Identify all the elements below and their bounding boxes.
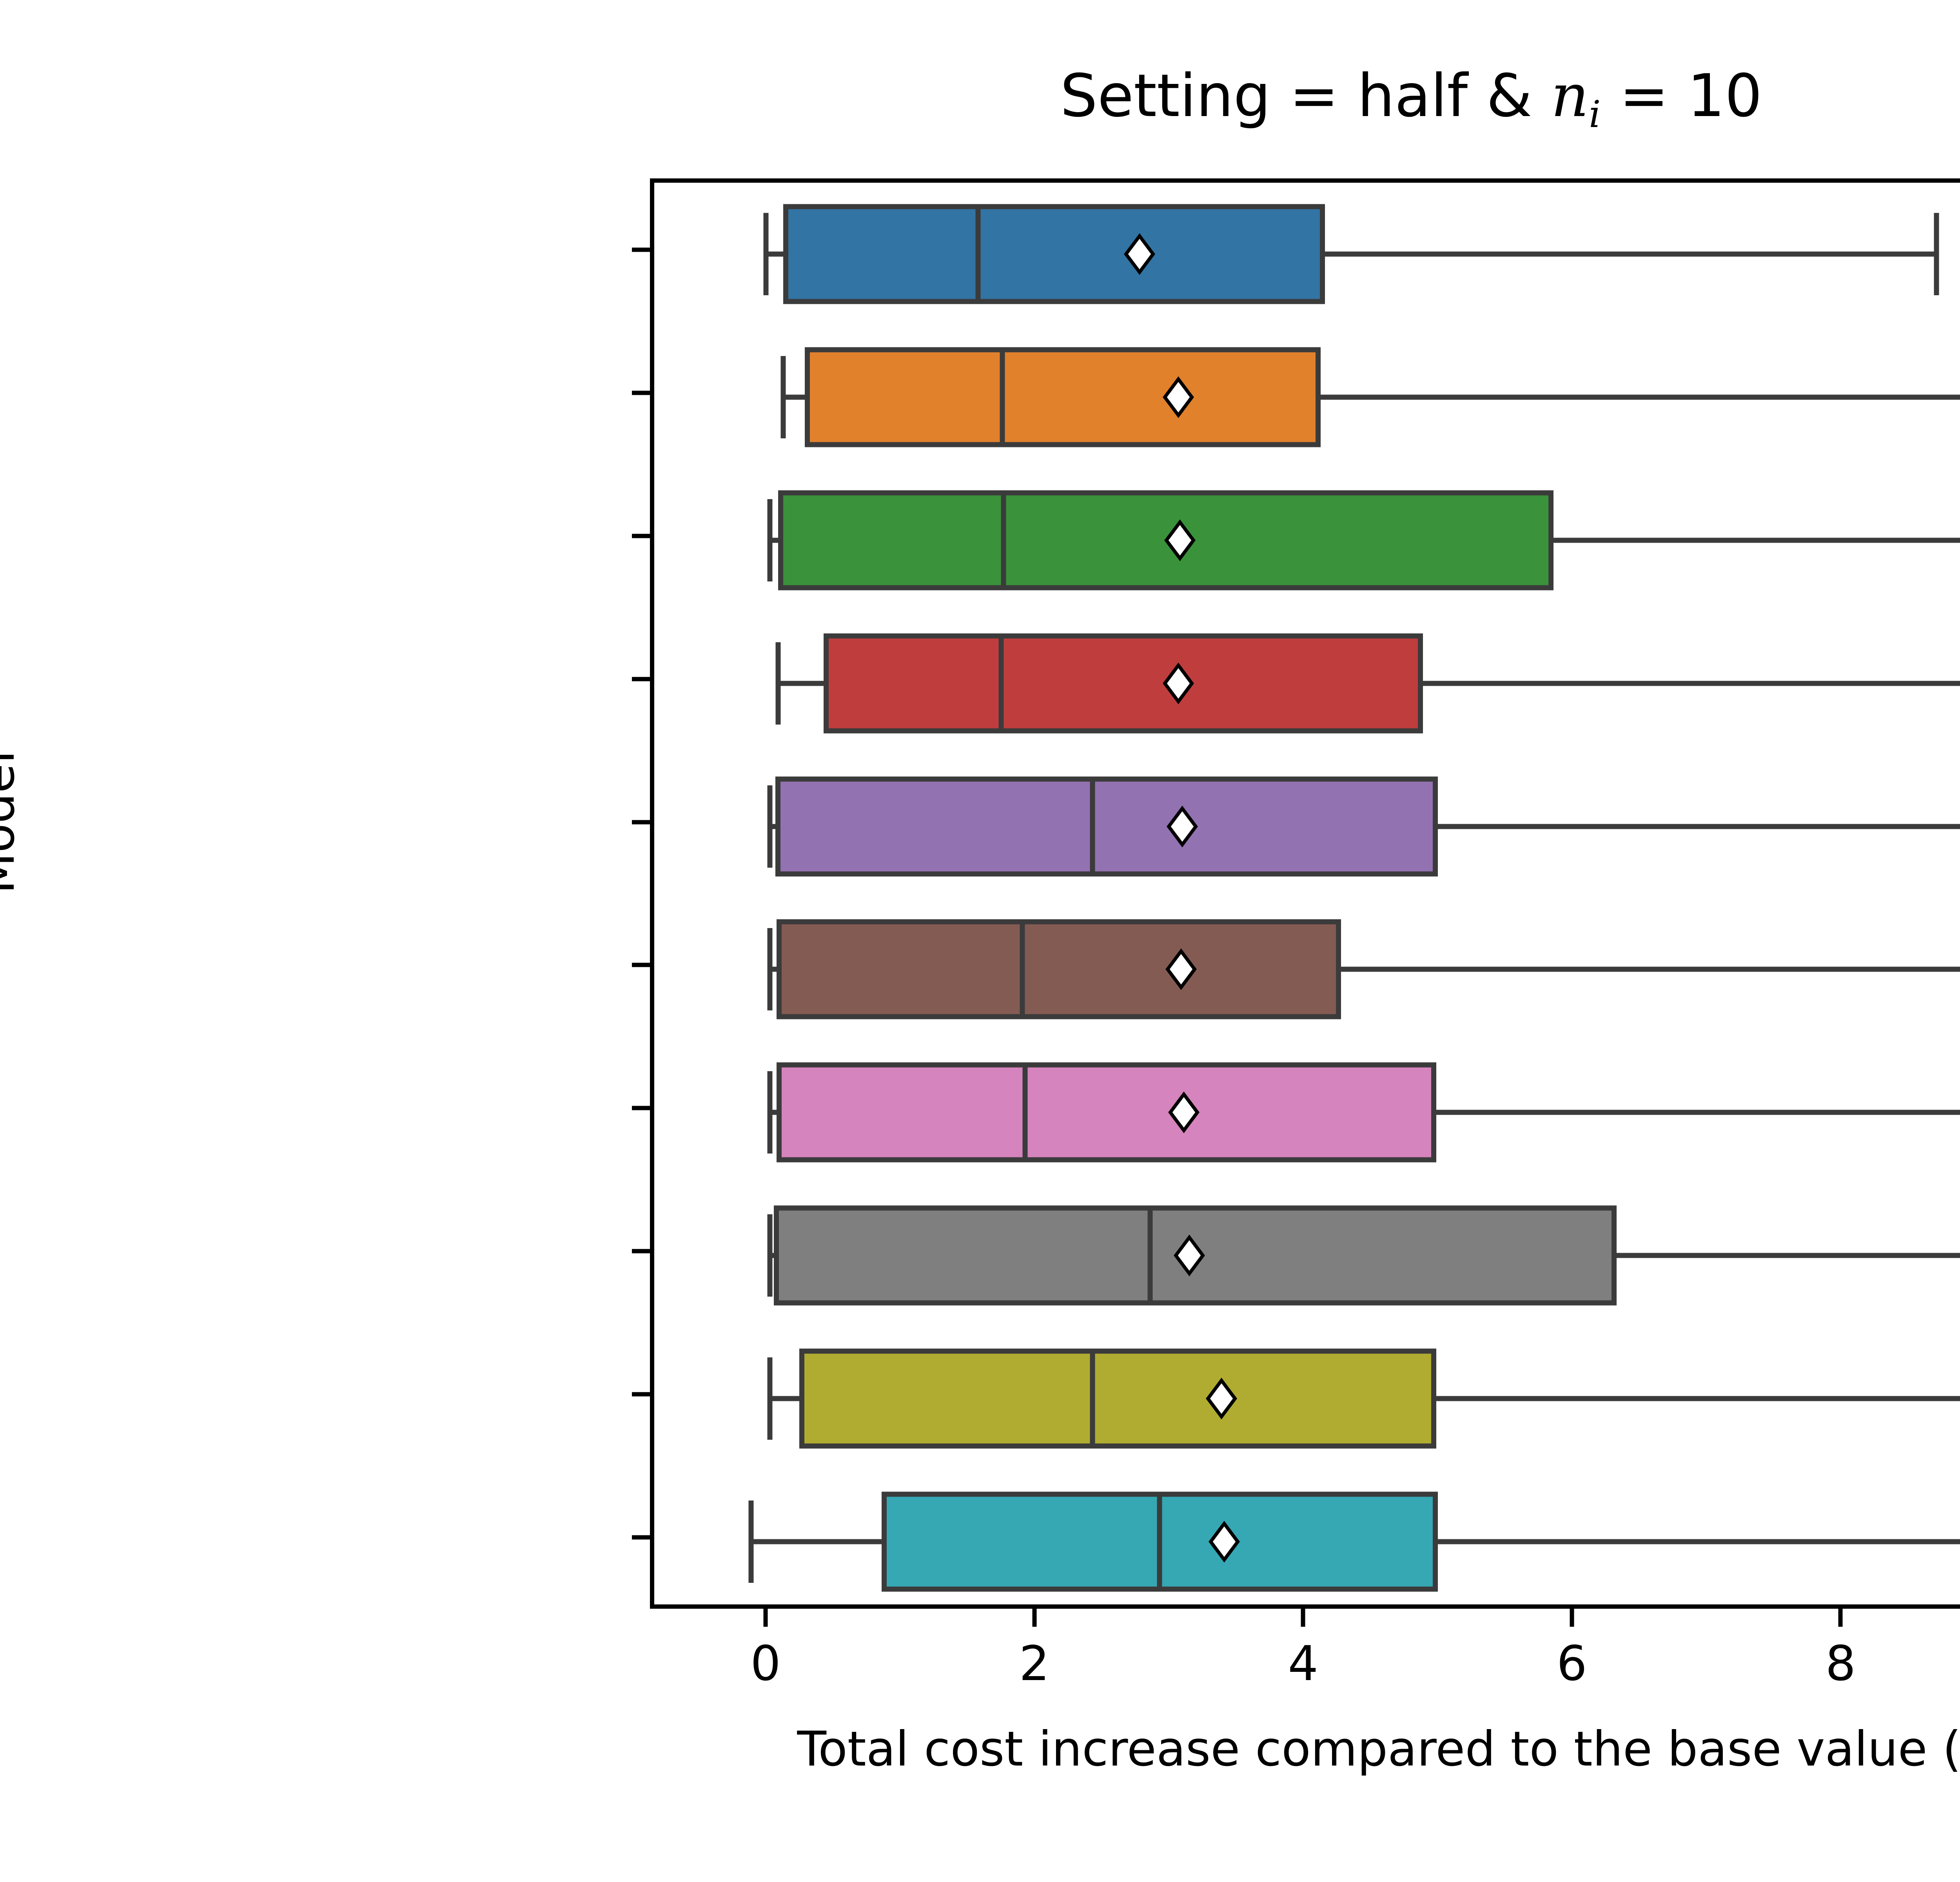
whisker-low-cap <box>768 1214 773 1297</box>
chart-title-subscript: i <box>1589 93 1601 136</box>
whisker-low-cap <box>775 642 780 725</box>
y-tick-mark-8 <box>632 1392 650 1396</box>
plot-area <box>654 183 1960 1604</box>
chart-title: Setting = half & ni = 10 <box>0 67 1960 133</box>
whisker-high-line <box>1436 1396 1960 1401</box>
whisker-high-line <box>1325 252 1936 257</box>
x-tick-mark-3 <box>1570 1609 1574 1627</box>
whisker-high-line <box>1553 538 1960 543</box>
y-tick-mark-9 <box>632 1535 650 1539</box>
median-line <box>1148 1206 1153 1306</box>
box-R-L-50-95-Γ1[interactable] <box>775 776 1438 876</box>
x-tick-label-4: 8 <box>1826 1636 1856 1691</box>
x-axis-label: Total cost increase compared to the base… <box>0 1721 1960 1777</box>
box-R-L-M-90-Γ1[interactable] <box>777 919 1341 1019</box>
x-tick-label-3: 6 <box>1557 1636 1587 1691</box>
box-R-N-M-95-Γ1[interactable] <box>805 347 1321 447</box>
whisker-low-cap <box>768 928 773 1010</box>
median-line <box>1000 347 1005 447</box>
chart-title-variable: n <box>1551 62 1589 130</box>
median-line <box>1020 919 1025 1019</box>
whisker-low-line <box>783 395 805 400</box>
median-line <box>1090 1348 1095 1448</box>
y-tick-mark-6 <box>632 1106 650 1110</box>
mean-diamond-marker <box>1163 784 1201 869</box>
whisker-low-cap <box>763 213 768 295</box>
median-line <box>1157 1491 1162 1591</box>
x-tick-label-1: 2 <box>1019 1636 1050 1691</box>
whisker-low-cap <box>768 785 773 868</box>
whisker-high-cap <box>1934 213 1939 295</box>
y-tick-mark-2 <box>632 534 650 538</box>
plot-frame <box>650 178 1960 1609</box>
y-axis-label: Model <box>0 750 25 894</box>
whisker-high-line <box>1438 1539 1960 1544</box>
whisker-high-line <box>1321 395 1960 400</box>
x-tick-mark-4 <box>1838 1609 1843 1627</box>
mean-diamond-marker <box>1165 1070 1203 1155</box>
mean-diamond-marker <box>1203 1356 1240 1441</box>
whisker-low-cap <box>768 499 773 581</box>
median-line <box>1001 490 1006 590</box>
chart-title-prefix: Setting = half & <box>1060 62 1551 130</box>
median-line <box>976 204 981 304</box>
chart-title-suffix: = 10 <box>1601 62 1762 130</box>
box-R-L-M-95-Γ1[interactable] <box>777 1063 1436 1163</box>
mean-diamond-marker <box>1171 1213 1208 1298</box>
median-line <box>1023 1063 1028 1163</box>
whisker-low-line <box>770 1396 799 1401</box>
whisker-low-line <box>766 252 784 257</box>
x-tick-label-2: 4 <box>1288 1636 1318 1691</box>
mean-diamond-marker <box>1121 212 1158 296</box>
boxplot-figure: Setting = half & ni = 10 Model Total cos… <box>0 0 1960 1882</box>
x-tick-label-0: 0 <box>750 1636 781 1691</box>
y-tick-mark-3 <box>632 677 650 681</box>
whisker-low-cap <box>749 1501 754 1583</box>
box-D-N-60[interactable] <box>783 204 1325 304</box>
box-R-L-55-90-Γ1[interactable] <box>799 1348 1436 1448</box>
y-tick-mark-1 <box>632 391 650 395</box>
whisker-high-line <box>1341 967 1960 972</box>
x-tick-mark-0 <box>764 1609 768 1627</box>
whisker-low-cap <box>768 1357 773 1440</box>
mean-diamond-marker <box>1160 641 1197 726</box>
x-tick-mark-1 <box>1032 1609 1036 1627</box>
median-line <box>998 633 1004 733</box>
median-line <box>1090 776 1095 876</box>
mean-diamond-marker <box>1162 927 1200 1012</box>
y-tick-mark-0 <box>632 248 650 252</box>
whisker-low-line <box>778 681 824 686</box>
whisker-high-line <box>1617 1253 1960 1258</box>
whisker-low-cap <box>768 1071 773 1154</box>
x-tick-mark-2 <box>1301 1609 1305 1627</box>
whisker-low-cap <box>781 356 786 438</box>
mean-diamond-marker <box>1160 355 1197 440</box>
whisker-high-line <box>1438 824 1960 829</box>
y-tick-mark-4 <box>632 820 650 824</box>
whisker-high-line <box>1423 681 1960 686</box>
whisker-low-line <box>751 1539 882 1544</box>
y-tick-mark-7 <box>632 1249 650 1253</box>
box-R-N-M-90-Γ1[interactable] <box>824 633 1423 733</box>
y-tick-mark-5 <box>632 963 650 967</box>
mean-diamond-marker <box>1161 498 1199 583</box>
mean-diamond-marker <box>1205 1499 1243 1584</box>
whisker-high-line <box>1436 1110 1960 1115</box>
